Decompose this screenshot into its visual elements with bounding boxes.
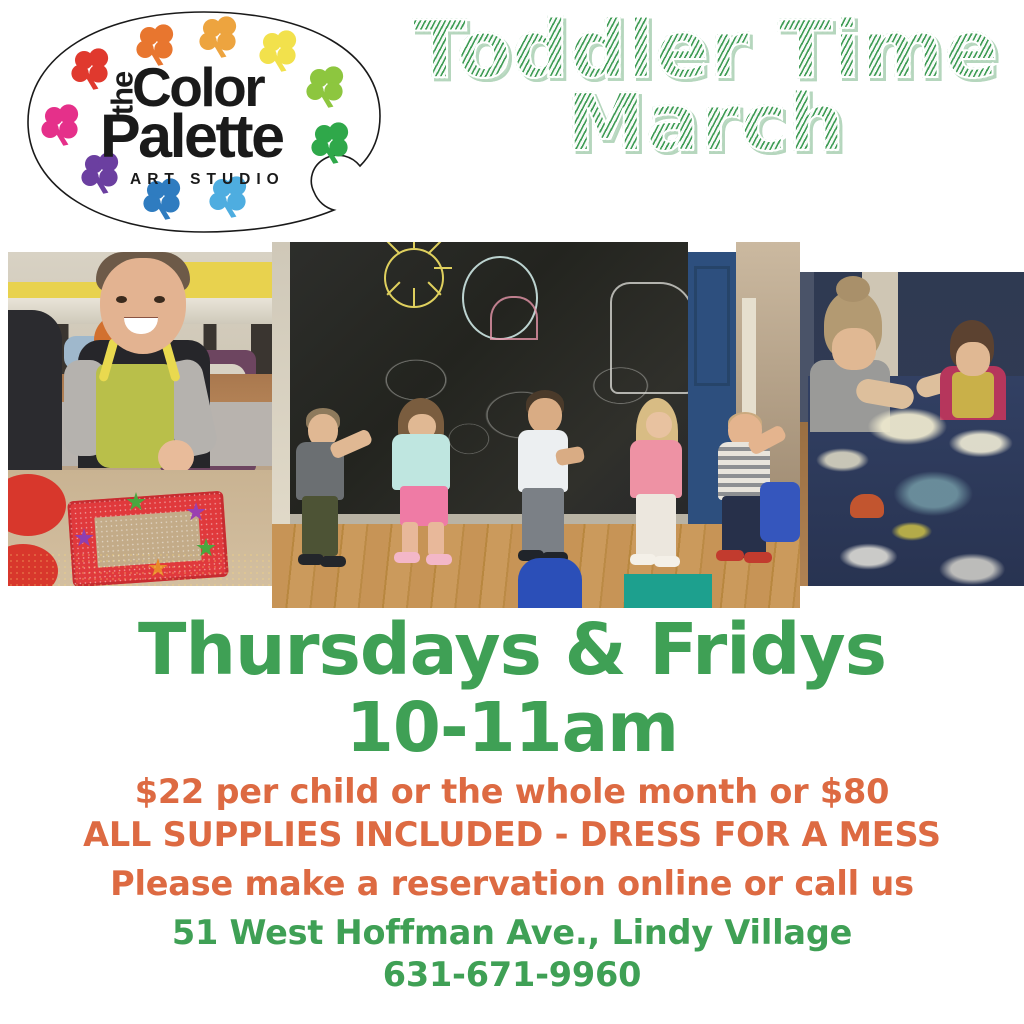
- headline-line-2: March: [398, 87, 1014, 160]
- logo-tagline: ART STUDIO: [130, 172, 285, 188]
- child-1-hair-bun: [836, 276, 870, 302]
- boy-eye-left: [116, 296, 127, 303]
- logo-palette-text: Palette: [100, 106, 283, 167]
- left-wall: [272, 242, 292, 552]
- schedule-days: Thursdays & Fridys: [0, 612, 1024, 689]
- details-block: Thursdays & Fridys 10-11am $22 per child…: [0, 612, 1024, 996]
- supplies-line: ALL SUPPLIES INCLUDED - DRESS FOR A MESS: [0, 814, 1024, 856]
- photo-chalkboard-wall: [272, 242, 800, 608]
- boy-hand: [158, 440, 194, 474]
- reservation-line: Please make a reservation online or call…: [0, 863, 1024, 905]
- price-line: $22 per child or the whole month or $80: [0, 771, 1024, 813]
- shaving-cream-paint: [808, 376, 1024, 586]
- chalk-pink-arc: [490, 296, 538, 340]
- child-1-face: [832, 328, 876, 370]
- photo-sensory-play: [800, 272, 1024, 586]
- adult-figure: [8, 310, 62, 470]
- schedule-time: 10-11am: [0, 689, 1024, 768]
- child-2-face: [956, 342, 990, 376]
- boy-head: [100, 258, 186, 354]
- glitter-scatter: [8, 552, 272, 586]
- blue-chair-foreground: [518, 558, 582, 608]
- photo-boy-glitter-frame: [8, 252, 272, 586]
- headline-line-1: Toddler Time: [398, 14, 1014, 87]
- chalk-sun: [386, 250, 442, 306]
- boy-eye-right: [154, 296, 165, 303]
- logo-wordmark: the Color Palette ART STUDIO: [104, 54, 344, 194]
- teal-bin: [624, 574, 712, 608]
- chalkboard: [290, 242, 688, 542]
- logo-block: the Color Palette ART STUDIO: [8, 6, 408, 234]
- blue-chair-far: [760, 482, 800, 542]
- small-toy: [850, 494, 884, 518]
- page-title: Toddler Time March: [398, 14, 1014, 161]
- address-line: 51 West Hoffman Ave., Lindy Village: [0, 912, 1024, 954]
- phone-line: 631-671-9960: [0, 954, 1024, 996]
